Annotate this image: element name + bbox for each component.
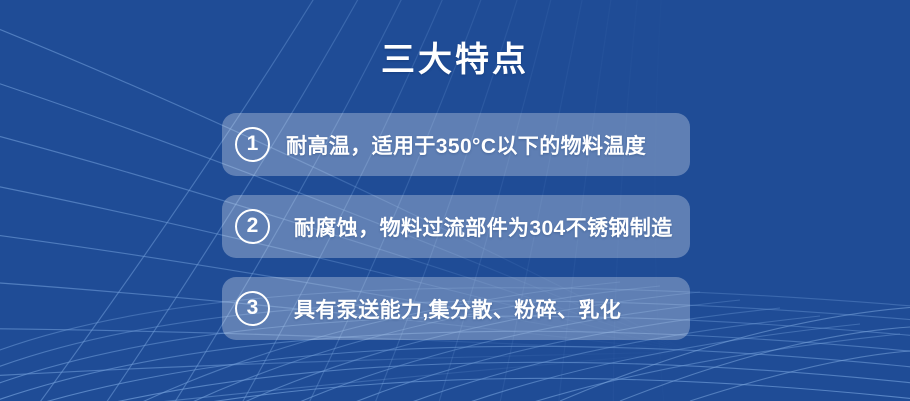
feature-index-label-3: 3 bbox=[247, 297, 259, 318]
feature-text-2: 耐腐蚀，物料过流部件为304不锈钢制造 bbox=[294, 212, 673, 242]
feature-index-badge-3: 3 bbox=[235, 291, 270, 326]
feature-index-label-2: 2 bbox=[247, 215, 259, 236]
feature-index-badge-2: 2 bbox=[235, 209, 270, 244]
feature-card-3[interactable]: 3 具有泵送能力,集分散、粉碎、乳化 bbox=[222, 277, 690, 340]
feature-banner: 三大特点 1 耐高温，适用于350°C以下的物料温度 2 耐腐蚀，物料过流部件为… bbox=[0, 0, 910, 401]
feature-index-badge-1: 1 bbox=[235, 127, 270, 162]
feature-card-2[interactable]: 2 耐腐蚀，物料过流部件为304不锈钢制造 bbox=[222, 195, 690, 258]
feature-text-1: 耐高温，适用于350°C以下的物料温度 bbox=[286, 130, 646, 160]
feature-card-1[interactable]: 1 耐高温，适用于350°C以下的物料温度 bbox=[222, 113, 690, 176]
feature-index-label-1: 1 bbox=[247, 133, 259, 154]
page-title: 三大特点 bbox=[0, 42, 910, 79]
feature-list: 1 耐高温，适用于350°C以下的物料温度 2 耐腐蚀，物料过流部件为304不锈… bbox=[222, 113, 690, 340]
feature-text-3: 具有泵送能力,集分散、粉碎、乳化 bbox=[294, 294, 621, 324]
